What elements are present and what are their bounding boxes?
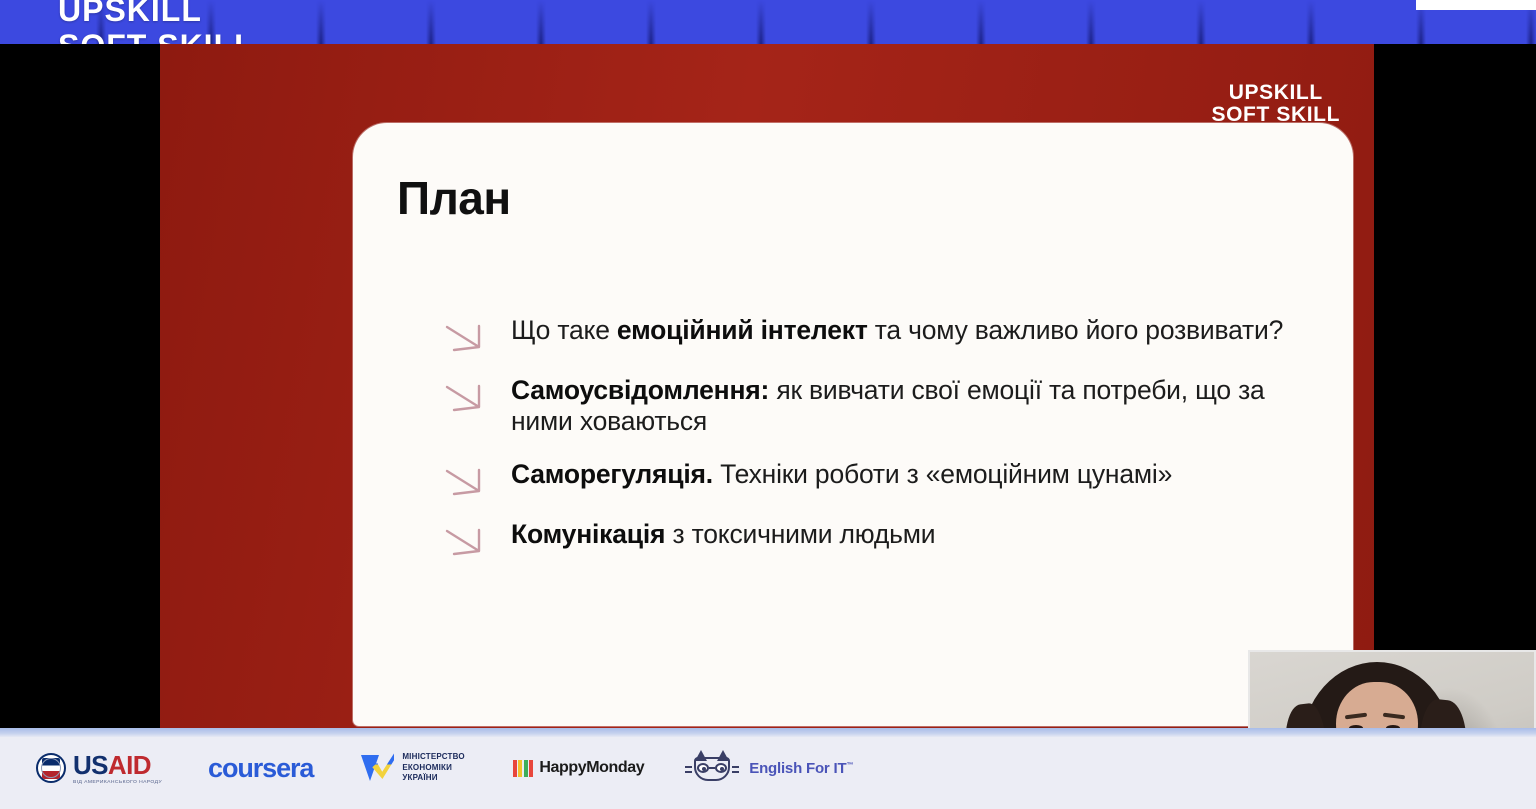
arrow-down-right-icon: [439, 319, 511, 359]
happy-monday-wordmark: HappyMonday: [539, 759, 644, 777]
bullet-suffix: з токсичними людьми: [665, 519, 935, 549]
happy-monday-bars-icon: [513, 760, 534, 777]
video-player-stage[interactable]: UPSKILL SOFT SKILL conference План Що та…: [0, 44, 1536, 728]
bullet-text: Саморегуляція. Техніки роботи з «емоційн…: [511, 457, 1172, 490]
bullet-bold: емоційний інтелект: [617, 315, 868, 345]
sponsor-logo-english-for-it[interactable]: English For IT™: [684, 751, 853, 785]
bullet-item: Самоусвідомлення: як вивчати свої емоції…: [439, 373, 1319, 437]
slide-bullet-list: Що таке емоційний інтелект та чому важли…: [439, 313, 1319, 577]
bullet-text: Самоусвідомлення: як вивчати свої емоції…: [511, 373, 1319, 437]
sponsor-logo-ministry-of-economy[interactable]: МІНІСТЕРСТВО ЕКОНОМІКИ УКРАЇНИ: [361, 752, 465, 784]
sponsor-bar: USAID ВІД АМЕРИКАНСЬКОГО НАРОДУ coursera…: [0, 728, 1536, 809]
bullet-text: Що таке емоційний інтелект та чому важли…: [511, 313, 1283, 346]
bullet-item: Що таке емоційний інтелект та чому важли…: [439, 313, 1319, 353]
usaid-word-aid: AID: [108, 750, 151, 780]
bullet-suffix: Техніки роботи з «емоційним цунамі»: [713, 459, 1172, 489]
banner-title: UPSKILL SOFT SKILL: [58, 0, 255, 48]
sponsor-logo-usaid[interactable]: USAID ВІД АМЕРИКАНСЬКОГО НАРОДУ: [36, 752, 162, 785]
bullet-item: Комунікація з токсичними людьми: [439, 517, 1319, 557]
presentation-slide: UPSKILL SOFT SKILL conference План Що та…: [160, 44, 1374, 728]
ministry-mark-icon: [361, 753, 395, 783]
arrow-down-right-icon: [439, 379, 511, 419]
left-letterbox: [0, 88, 160, 772]
cat-with-glasses-icon: [684, 751, 740, 785]
sponsor-logo-coursera[interactable]: coursera: [208, 753, 313, 784]
conference-logo-line1: UPSKILL: [1212, 82, 1341, 104]
bullet-bold: Самоусвідомлення:: [511, 375, 769, 405]
ministry-label: МІНІСТЕРСТВО ЕКОНОМІКИ УКРАЇНИ: [402, 752, 465, 784]
usaid-word-us: US: [73, 750, 108, 780]
bullet-bold: Саморегуляція.: [511, 459, 713, 489]
english-for-it-tm: ™: [846, 762, 853, 769]
bullet-bold: Комунікація: [511, 519, 665, 549]
english-for-it-wordmark: English For IT™: [749, 760, 853, 777]
sponsor-logo-happy-monday[interactable]: HappyMonday: [513, 759, 644, 777]
slide-title: План: [397, 171, 511, 225]
bullet-suffix: та чому важливо його розвивати?: [868, 315, 1284, 345]
bullet-item: Саморегуляція. Техніки роботи з «емоційн…: [439, 457, 1319, 497]
usaid-wordmark: USAID ВІД АМЕРИКАНСЬКОГО НАРОДУ: [73, 752, 162, 785]
slide-content-card: План Що таке емоційний інтелект та чому …: [353, 123, 1353, 726]
arrow-down-right-icon: [439, 463, 511, 503]
bullet-prefix: Що таке: [511, 315, 617, 345]
bullet-text: Комунікація з токсичними людьми: [511, 517, 935, 550]
sponsor-bar-top-divider: [0, 728, 1536, 737]
english-for-it-text: English For IT: [749, 760, 846, 777]
banner-corner-notch: [1416, 0, 1536, 10]
background-page-banner: UPSKILL SOFT SKILL: [0, 0, 1536, 48]
usaid-seal-icon: [36, 753, 66, 783]
usaid-tagline: ВІД АМЕРИКАНСЬКОГО НАРОДУ: [73, 780, 162, 785]
sponsor-logo-row: USAID ВІД АМЕРИКАНСЬКОГО НАРОДУ coursera…: [36, 751, 853, 785]
arrow-down-right-icon: [439, 523, 511, 563]
